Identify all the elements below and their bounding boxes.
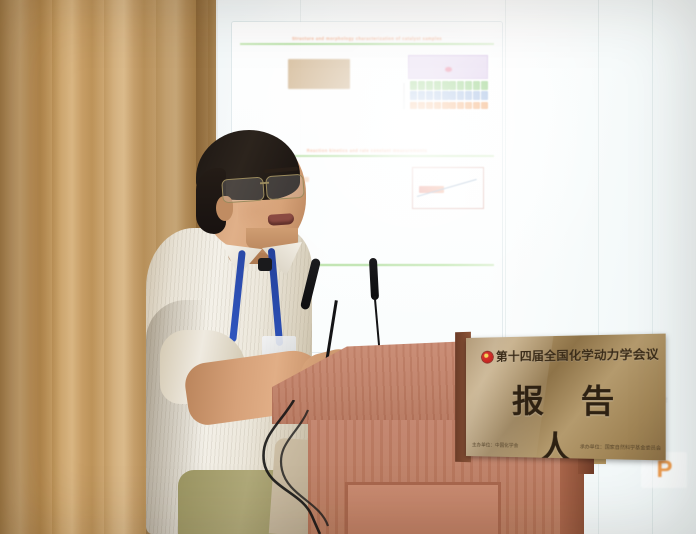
kinetics-plot-figure — [412, 167, 484, 209]
lattice-row-blue — [410, 91, 488, 100]
curtain-shading — [0, 0, 216, 534]
slide-chip-row — [270, 177, 309, 182]
simulation-highlight — [445, 67, 452, 72]
conference-sign: 第十四届全国化学动力学会议 报 告 人 主办单位：中国化学会 承办单位：国家自然… — [466, 334, 666, 461]
slide-section-1-body — [240, 49, 494, 121]
slide-section-2-title: Reaction kinetics and rate constant meas… — [240, 148, 494, 153]
slide-section-2: Reaction kinetics and rate constant meas… — [240, 148, 494, 233]
chinese-emblem-icon — [482, 351, 493, 362]
sign-footer-organizer: 主办单位：中国化学会 — [472, 442, 518, 449]
slide-section-1-rule — [240, 43, 494, 45]
powerpoint-letter: P — [656, 458, 671, 482]
slide-caption — [246, 219, 247, 223]
lattice-row-orange — [410, 102, 488, 109]
lattice-row-green — [410, 81, 488, 90]
audio-cable — [250, 400, 370, 534]
slide-section-1-title: Structure and morphology characterizatio… — [240, 36, 494, 41]
slide-section-1: Structure and morphology characterizatio… — [240, 36, 494, 121]
photo-scene: Structure and morphology characterizatio… — [0, 0, 696, 534]
sign-title-row: 第十四届全国化学动力学会议 — [482, 346, 659, 365]
presentation-slide: Structure and morphology characterizatio… — [232, 22, 502, 352]
slide-section-2-rule — [240, 155, 494, 157]
curtain-edge — [196, 0, 218, 534]
conference-title: 第十四届全国化学动力学会议 — [496, 346, 659, 365]
sem-micrograph-figure — [288, 59, 350, 89]
simulation-box-figure — [408, 55, 488, 79]
lattice-axis — [399, 83, 409, 109]
lattice-diagram-figure — [410, 81, 488, 113]
slide-section-3-rule — [240, 264, 494, 266]
slide-section-2-body — [240, 161, 494, 233]
slide-section-3 — [240, 262, 494, 266]
